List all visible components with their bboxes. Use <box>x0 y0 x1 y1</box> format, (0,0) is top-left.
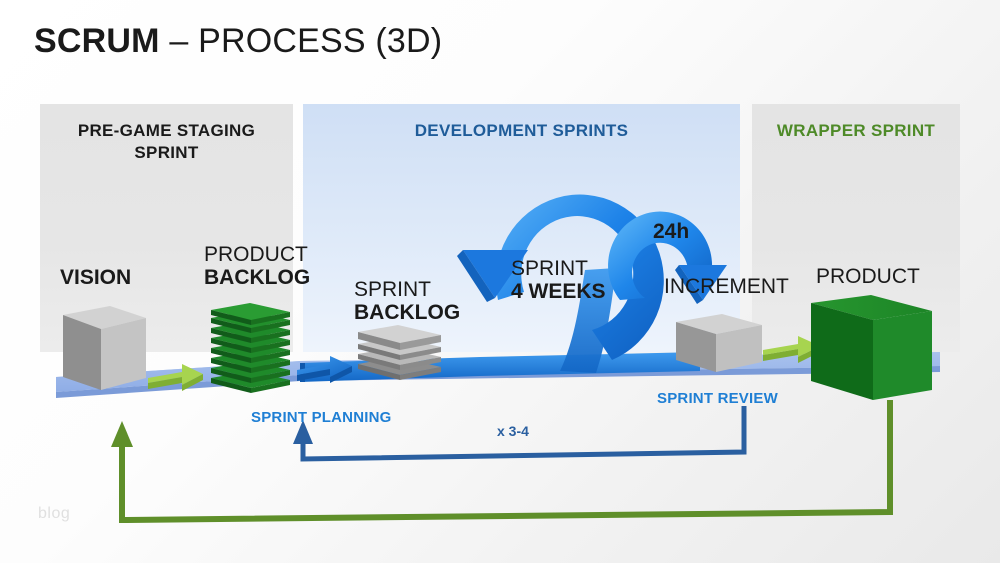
increment-box <box>676 314 762 372</box>
label-product-text: PRODUCT <box>816 265 920 288</box>
label-sprint-review: SPRINT REVIEW <box>657 390 778 407</box>
label-sprint-cycle-line2: 4 WEEKS <box>511 280 606 303</box>
label-vision-text: VISION <box>60 266 131 289</box>
vision-box <box>63 306 146 390</box>
label-product-backlog-line1: PRODUCT <box>204 243 310 266</box>
label-increment-text: INCREMENT <box>664 275 789 298</box>
label-sprint-cycle: SPRINT 4 WEEKS <box>511 257 606 303</box>
label-sprint-backlog-line1: SPRINT <box>354 278 460 301</box>
label-product-backlog-line2: BACKLOG <box>204 266 310 289</box>
label-product: PRODUCT <box>816 265 920 288</box>
product-backlog-stack <box>211 303 290 393</box>
label-sprint-backlog: SPRINT BACKLOG <box>354 278 460 324</box>
label-sprint-backlog-line2: BACKLOG <box>354 301 460 324</box>
label-sprint-planning: SPRINT PLANNING <box>251 409 392 426</box>
label-increment: INCREMENT <box>664 275 789 298</box>
label-vision: VISION <box>60 266 131 289</box>
label-daily-scrum-24h: 24h <box>653 220 689 243</box>
sprint-backlog-stack <box>358 325 441 380</box>
slide-canvas: SCRUM – PROCESS (3D) PRE-GAME STAGING SP… <box>0 0 1000 563</box>
label-sprint-cycle-line1: SPRINT <box>511 257 606 280</box>
label-product-backlog: PRODUCT BACKLOG <box>204 243 310 289</box>
label-iteration-count: x 3-4 <box>497 423 529 439</box>
product-box <box>811 295 932 400</box>
